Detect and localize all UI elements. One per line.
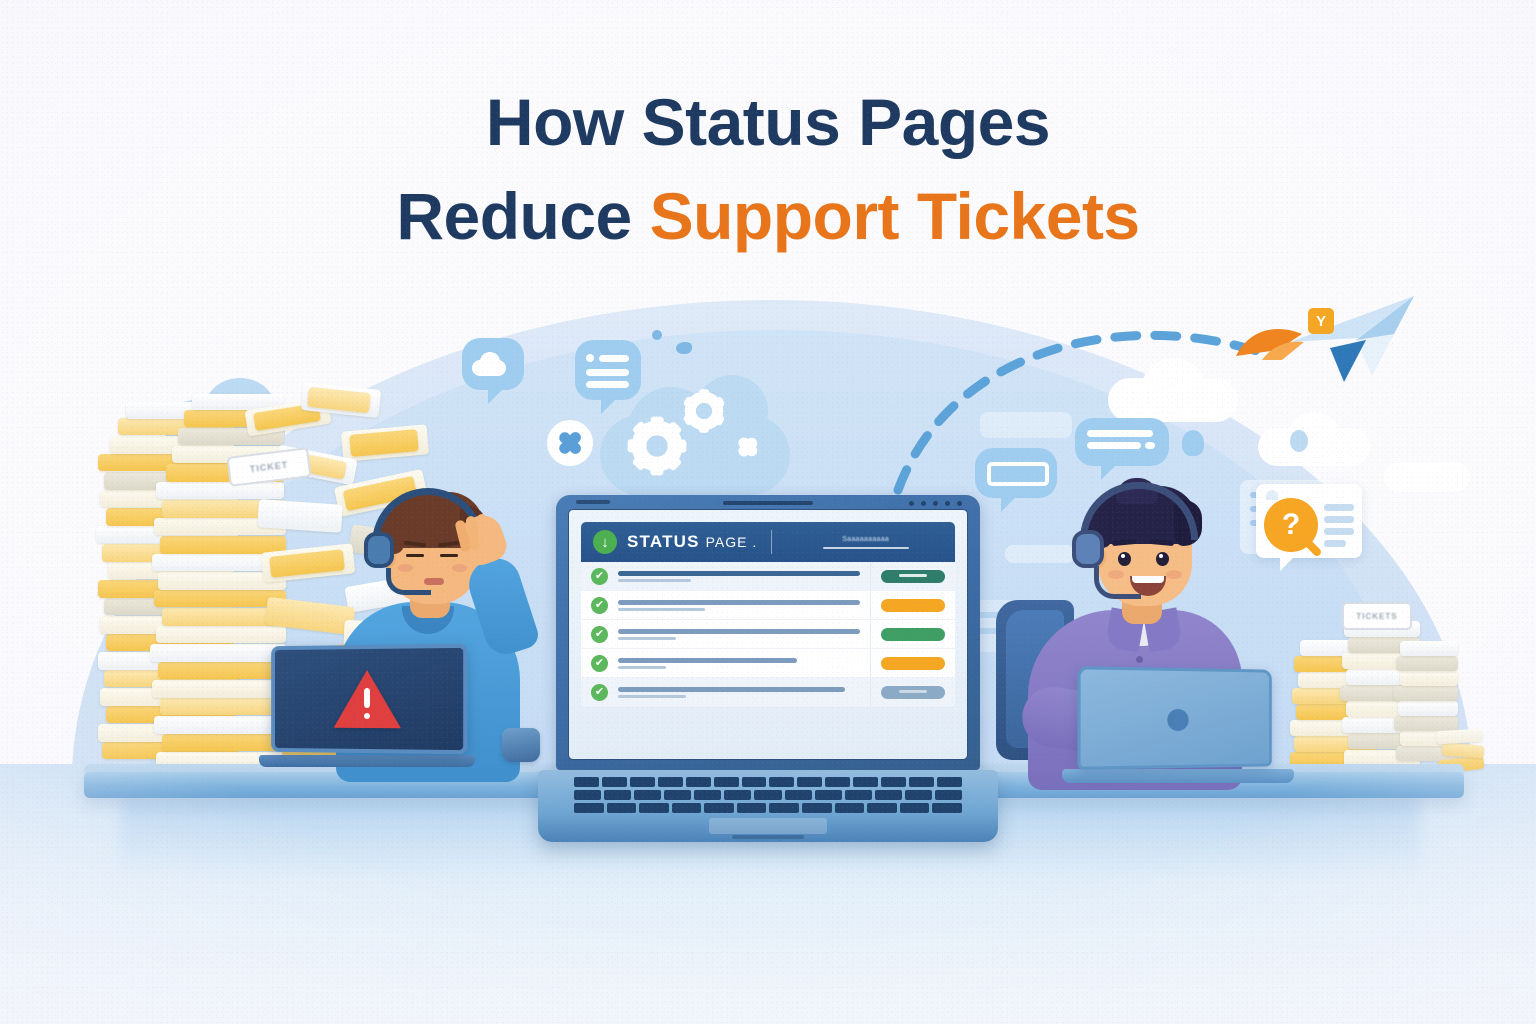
meta-rule [823,547,909,549]
service-name-bar [618,571,860,576]
lid-notch [732,835,804,839]
service-sub-bar [618,637,676,640]
warning-triangle-icon [334,670,401,728]
check-glyph: ✔ [595,600,604,611]
dot-deco [652,330,662,340]
main-laptop-base [538,770,998,842]
faq-line [1324,528,1354,535]
status-page-brand: STATUS PAGE . [627,532,757,552]
service-sub-bar [618,666,666,669]
check-glyph: ✔ [595,687,604,698]
page-title: How Status Pages Reduce Support Tickets [0,76,1536,263]
agent-eye [406,554,424,557]
status-row[interactable]: ✔ [581,591,955,620]
row-separator [870,678,871,707]
logo-glyph: ↓ [601,535,609,550]
service-sub-bar [618,579,691,582]
headset-mic-icon [386,568,431,595]
title-line-2: Reduce Support Tickets [0,170,1536,264]
plane-badge-icon: Y [1308,308,1334,334]
service-name-bar [618,629,860,634]
agent-eye-highlight [1121,554,1125,558]
brand-light: PAGE . [706,534,758,550]
left-laptop-screen [271,644,467,755]
agent-eye-highlight [1159,554,1163,558]
status-row-labels [618,629,860,640]
trackpad[interactable] [709,818,827,834]
service-name-bar [618,658,797,663]
agent-blush [1166,570,1182,579]
status-row[interactable]: ✔ [581,678,955,707]
service-sub-bar [618,695,686,698]
status-row-labels [618,600,860,611]
faq-line [1324,504,1354,511]
bezel-dots [909,501,962,506]
unknown-pill [881,686,945,699]
title-line-2-accent: Support Tickets [650,179,1140,253]
title-line-1: How Status Pages [0,76,1536,170]
check-circle-icon: ✔ [591,597,608,614]
mouse-device [502,728,540,762]
agent-button [1136,656,1143,663]
row-separator [870,649,871,677]
webcam-bar-icon [723,501,813,505]
left-laptop-base [259,755,475,767]
main-laptop: ↓ STATUS PAGE . Saaaaaaaaaa ✔ [556,495,998,842]
right-laptop-logo [1167,709,1188,731]
ticket-label: TICKETS [1342,602,1412,630]
right-laptop-lid [1077,666,1271,770]
gear-icon [682,389,726,433]
status-row-labels [618,687,860,698]
orange-swoosh-icon [1232,318,1312,372]
service-name-bar [618,600,860,605]
plane-badge-glyph: Y [1316,314,1326,329]
status-page-header: ↓ STATUS PAGE . Saaaaaaaaaa [581,522,955,562]
x-mark-icon [547,420,593,466]
meta-text: Saaaaaaaaaa [842,536,889,543]
right-laptop-base [1062,769,1294,783]
title-line-2-plain: Reduce [396,179,649,253]
main-laptop-lid: ↓ STATUS PAGE . Saaaaaaaaaa ✔ [556,495,980,770]
row-separator [870,562,871,590]
headset-earcup-icon [1072,530,1104,568]
check-glyph: ✔ [595,629,604,640]
right-laptop [1078,668,1294,783]
status-row-labels [618,571,860,582]
left-laptop [268,645,475,767]
status-row-labels [618,658,860,669]
faq-line [1324,540,1346,547]
service-name-bar [618,687,845,692]
status-page-screen: ↓ STATUS PAGE . Saaaaaaaaaa ✔ [568,509,968,760]
download-circle-icon: ↓ [593,530,617,554]
chat-bubble-icon [462,338,524,390]
cloud-gears-icon [600,375,790,500]
keyboard[interactable] [574,777,962,813]
degraded-pill [881,599,945,612]
row-separator [870,620,871,648]
row-separator [870,591,871,619]
gear-icon [628,417,686,475]
ticket-label-text: TICKET [249,460,288,475]
illustration-canvas: How Status Pages Reduce Support Tickets [0,0,1536,1024]
check-circle-icon: ✔ [591,655,608,672]
header-divider [771,530,772,554]
brand-strong: STATUS [627,532,700,551]
ticket-label-text: TICKETS [1356,612,1397,621]
agent-blush [452,564,467,572]
check-glyph: ✔ [595,658,604,669]
right-ticket-stack: TICKETS [1290,600,1475,775]
service-sub-bar [618,608,705,611]
status-page-meta: Saaaaaaaaaa [782,536,943,549]
status-row[interactable]: ✔ [581,649,955,678]
check-circle-icon: ✔ [591,568,608,585]
check-circle-icon: ✔ [591,684,608,701]
operational-pill [881,570,945,583]
status-page-rows: ✔ ✔ [581,562,955,707]
check-glyph: ✔ [595,571,604,582]
headset-mic-icon [1094,566,1141,599]
agent-eye [440,554,458,557]
operational-pill [881,628,945,641]
lid-badge [576,500,610,504]
degraded-pill [881,657,945,670]
check-circle-icon: ✔ [591,626,608,643]
status-row[interactable]: ✔ [581,562,955,591]
status-row[interactable]: ✔ [581,620,955,649]
dot-deco [676,342,692,354]
x-mark-icon [728,427,768,467]
headset-earcup-icon [364,532,394,568]
faq-line [1324,516,1354,523]
